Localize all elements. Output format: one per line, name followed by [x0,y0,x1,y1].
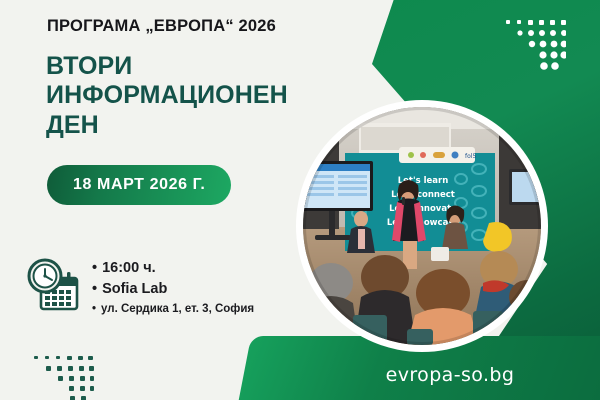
bullet-icon: • [92,279,97,300]
headline-line-3: ДЕН [46,111,288,140]
detail-address-row: •ул. Сердика 1, ет. 3, София [92,300,254,319]
date-badge: 18 МАРТ 2026 Г. [47,165,231,205]
page-title: ВТОРИ ИНФОРМАЦИОНЕН ДЕН [46,52,288,140]
event-photo: fol5 Let's learn Let's connect Let's inn… [303,107,541,345]
poster-canvas: fol5 Let's learn Let's connect Let's inn… [0,0,600,400]
detail-venue: Sofia Lab [102,281,167,297]
event-photo-illustration: fol5 Let's learn Let's connect Let's inn… [303,107,541,345]
headline-line-2: ИНФОРМАЦИОНЕН [46,81,288,110]
bottom-left-dot-pattern-icon [32,355,94,400]
website-url[interactable]: evropa-so.bg [330,364,570,386]
top-right-dot-pattern-icon [504,18,566,76]
detail-venue-row: •Sofia Lab [92,279,254,300]
event-details-list: •16:00 ч. •Sofia Lab •ул. Сердика 1, ет.… [92,258,254,319]
detail-time: 16:00 ч. [102,260,156,276]
svg-text:fol5: fol5 [465,153,476,160]
detail-address: ул. Сердика 1, ет. 3, София [101,303,254,315]
bullet-icon: • [92,300,96,319]
clock-calendar-icon [24,256,82,314]
program-kicker: ПРОГРАМА „ЕВРОПА“ 2026 [47,17,276,36]
bullet-icon: • [92,258,97,279]
detail-time-row: •16:00 ч. [92,258,254,279]
headline-line-1: ВТОРИ [46,52,288,81]
